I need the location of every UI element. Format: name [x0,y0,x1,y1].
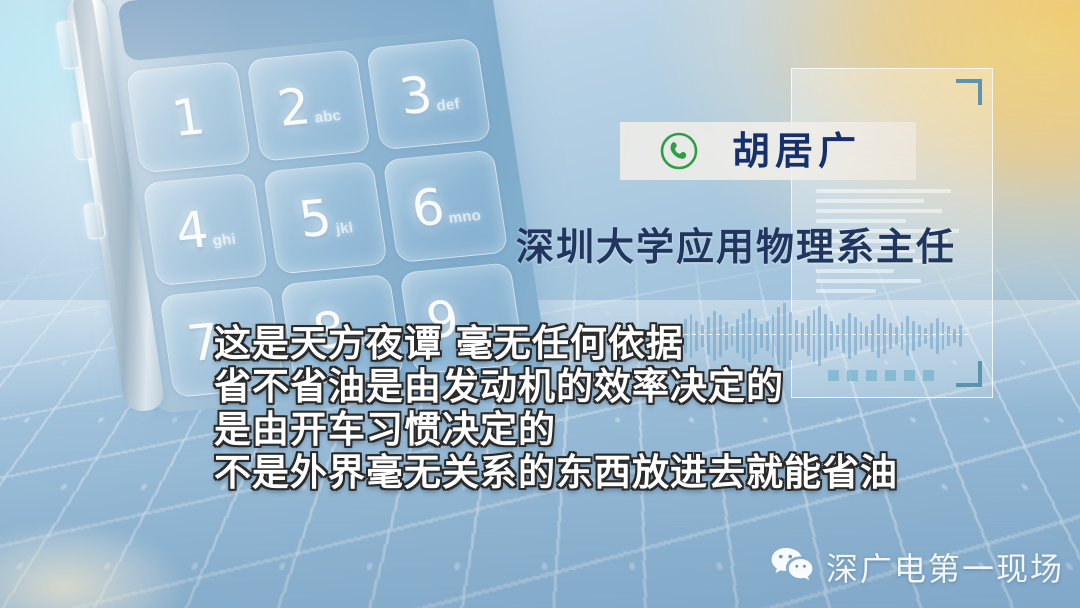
subtitle-line: 这是天方夜谭 毫无任何依据 [214,322,974,365]
guest-name: 胡居广 [732,132,861,170]
keypad-key-number: 3 [396,69,435,122]
keypad-key-letters: jkl [335,219,355,237]
keypad-key-4: 4ghi [142,173,268,286]
subtitle-block: 这是天方夜谭 毫无任何依据 省不省油是由发动机的效率决定的 是由开车习惯决定的 … [214,322,974,494]
wechat-icon [770,546,814,589]
keypad-key-1: 1 [126,61,252,174]
subtitle-line: 不是外界毫无关系的东西放进去就能省油 [214,451,974,494]
keypad-key-3: 3def [366,38,492,151]
keypad-key-letters: abc [313,107,342,126]
keypad-key-number: 5 [296,193,335,246]
broadcast-frame: 12abc3def4ghi5jkl6mno7pqrs8tuv9wxyz 胡居广 … [0,0,1080,608]
keypad-key-number: 1 [169,91,208,144]
keypad-key-2: 2abc [246,49,372,162]
subtitle-line: 省不省油是由发动机的效率决定的 [214,365,974,408]
keypad-key-letters: ghi [212,231,238,250]
corner-bracket-top-right-icon [956,79,982,105]
guest-title: 深圳大学应用物理系主任 [516,216,956,271]
phone-handset-icon [658,130,700,172]
guest-name-banner: 胡居广 [620,122,916,180]
keypad-key-number: 6 [408,182,447,235]
keypad-key-6: 6mno [383,150,509,263]
subtitle-line: 是由开车习惯决定的 [214,408,974,451]
watermark-text: 深广电第一现场 [826,544,1064,590]
keypad-key-number: 4 [173,204,212,257]
keypad-key-number: 2 [274,81,313,134]
keypad-key-5: 5jkl [263,161,389,274]
keypad-key-letters: def [435,95,461,114]
channel-watermark: 深广电第一现场 [770,544,1064,590]
keypad-key-letters: mno [447,207,482,227]
